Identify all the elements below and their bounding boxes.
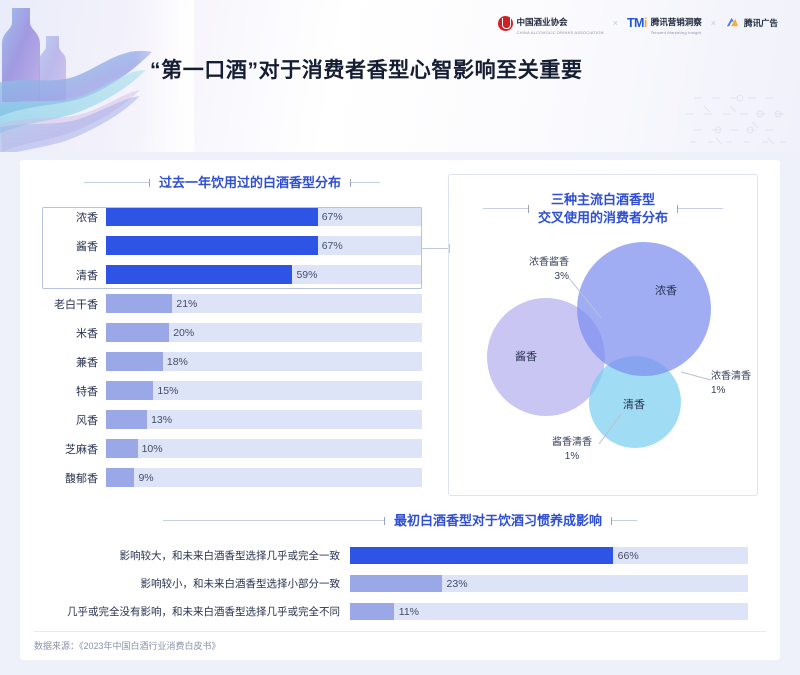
bar-fill — [106, 294, 172, 313]
cada-sublabel: CHINA ALCOHOLIC DRINKS ASSOCIATION — [517, 30, 604, 35]
bar-label: 米香 — [42, 325, 106, 341]
venn-annotation-nongxiang-qingxiang: 浓香清香 1% — [711, 370, 751, 397]
venn-annotation-value: 3% — [487, 270, 569, 284]
logo-tencent-ads: 腾讯广告 — [725, 16, 778, 30]
section-2-title-line1: 三种主流白酒香型 — [551, 192, 655, 207]
bar-value: 67% — [318, 211, 343, 223]
influence-bar-list: 影响较大，和未来白酒香型选择几乎或完全一致 66% 影响较小，和未来白酒香型选择… — [20, 546, 780, 622]
bar-value: 11% — [394, 606, 419, 618]
cada-emblem-icon — [498, 16, 513, 31]
venn-annotation-nongxiang-jiangxiang: 浓香酱香 3% — [487, 256, 569, 283]
bar-label: 老白干香 — [42, 296, 106, 312]
logo-separator-2: × — [711, 18, 716, 28]
bar-track: 11% — [350, 603, 748, 620]
heading-rule-right — [677, 208, 723, 209]
bar-track: 9% — [106, 468, 422, 487]
bar-fill — [106, 352, 163, 371]
bar-row: 清香 59% — [42, 264, 422, 286]
bar-row: 影响较小，和未来白酒香型选择小部分一致 23% — [20, 574, 748, 594]
bar-value: 10% — [138, 443, 163, 455]
cada-label: 中国酒业协会 — [517, 17, 568, 27]
bar-fill — [106, 468, 134, 487]
bar-track: 59% — [106, 265, 422, 284]
bar-value: 13% — [147, 414, 172, 426]
heading-rule-right — [350, 182, 380, 183]
bar-track: 10% — [106, 439, 422, 458]
bar-fill — [106, 265, 292, 284]
venn-annotation-value: 1% — [711, 384, 751, 398]
section-1-title: 过去一年饮用过的白酒香型分布 — [159, 174, 341, 192]
venn-annotation-label: 浓香酱香 — [529, 257, 569, 268]
bar-value: 59% — [292, 269, 317, 281]
bar-value: 23% — [442, 578, 468, 590]
bar-row: 浓香 67% — [42, 206, 422, 228]
bar-label: 芝麻香 — [42, 441, 106, 457]
bar-label: 兼香 — [42, 354, 106, 370]
bar-fill — [106, 236, 318, 255]
bar-track: 21% — [106, 294, 422, 313]
bar-value: 15% — [153, 385, 178, 397]
bar-label: 影响较大，和未来白酒香型选择几乎或完全一致 — [20, 548, 350, 563]
aroma-overlap-venn-panel: 三种主流白酒香型 交叉使用的消费者分布 浓香 酱香 清香 浓香酱香 3% — [448, 174, 758, 496]
bar-value: 66% — [613, 550, 639, 562]
tmi-sublabel: Tencent Marketing Insight — [651, 30, 702, 35]
bar-value: 67% — [318, 240, 343, 252]
bar-fill — [350, 575, 442, 592]
heading-rule-left — [84, 182, 150, 183]
bar-value: 18% — [163, 356, 188, 368]
section-3-title: 最初白酒香型对于饮酒习惯养成影响 — [394, 512, 602, 530]
bar-label: 风香 — [42, 412, 106, 428]
bar-track: 67% — [106, 236, 422, 255]
venn-annotation-label: 酱香清香 — [552, 437, 592, 448]
bar-row: 影响较大，和未来白酒香型选择几乎或完全一致 66% — [20, 546, 748, 566]
aroma-bar-list: 浓香 67% 酱香 67% 清香 59% — [42, 206, 422, 489]
partner-logos: 中国酒业协会 CHINA ALCOHOLIC DRINKS ASSOCIATIO… — [498, 12, 779, 34]
bar-label: 馥郁香 — [42, 470, 106, 486]
venn-annotation-value: 1% — [541, 450, 603, 464]
tmi-label: 腾讯营销洞察 — [651, 17, 702, 27]
bar-track: 15% — [106, 381, 422, 400]
tencent-ads-emblem-icon — [725, 16, 740, 30]
bar-fill — [350, 547, 613, 564]
logo-china-alcoholic-drinks-association: 中国酒业协会 CHINA ALCOHOLIC DRINKS ASSOCIATIO… — [498, 12, 604, 35]
section-3-heading: 最初白酒香型对于饮酒习惯养成影响 — [20, 512, 780, 530]
logo-tmi: TMi 腾讯营销洞察 Tencent Marketing Insight — [627, 12, 702, 35]
bar-row: 风香 13% — [42, 409, 422, 431]
section-1-heading: 过去一年饮用过的白酒香型分布 — [42, 174, 422, 192]
bar-value: 20% — [169, 327, 194, 339]
bar-track: 23% — [350, 575, 748, 592]
section-2-title: 三种主流白酒香型 交叉使用的消费者分布 — [538, 191, 668, 226]
bar-fill — [106, 439, 138, 458]
content-card: 过去一年饮用过的白酒香型分布 浓香 67% 酱香 67% — [20, 160, 780, 660]
bar-value: 21% — [172, 298, 197, 310]
bar-row: 几乎或完全没有影响，和未来白酒香型选择几乎或完全不同 11% — [20, 602, 748, 622]
spirit-aroma-distribution-chart: 过去一年饮用过的白酒香型分布 浓香 67% 酱香 67% — [42, 174, 422, 496]
bar-row: 芝麻香 10% — [42, 438, 422, 460]
bar-fill — [106, 381, 153, 400]
bar-track: 13% — [106, 410, 422, 429]
venn-diagram: 浓香 酱香 清香 浓香酱香 3% 浓香清香 1% 酱香清香 1% — [449, 230, 759, 480]
footer-divider — [34, 631, 766, 632]
bar-row: 特香 15% — [42, 380, 422, 402]
bar-row: 兼香 18% — [42, 351, 422, 373]
bar-fill — [350, 603, 394, 620]
heading-rule-left — [483, 208, 529, 209]
tmi-wordmark-icon: TMi — [627, 16, 647, 30]
bar-fill — [106, 410, 147, 429]
bar-label: 影响较小，和未来白酒香型选择小部分一致 — [20, 576, 350, 591]
section-2-heading: 三种主流白酒香型 交叉使用的消费者分布 — [449, 175, 757, 226]
heading-rule-right — [611, 520, 637, 521]
bar-fill — [106, 207, 318, 226]
section-2-title-line2: 交叉使用的消费者分布 — [538, 210, 668, 225]
bar-fill — [106, 323, 169, 342]
heading-rule-left — [163, 520, 385, 521]
page-title: “第一口酒”对于消费者香型心智影响至关重要 — [150, 54, 583, 84]
header-banner: “第一口酒”对于消费者香型心智影响至关重要 中国酒业协会 CHINA ALCOH… — [0, 0, 800, 152]
bar-row: 米香 20% — [42, 322, 422, 344]
bar-row: 馥郁香 9% — [42, 467, 422, 489]
bar-label: 酱香 — [42, 238, 106, 254]
bar-track: 20% — [106, 323, 422, 342]
initial-aroma-influence-chart: 最初白酒香型对于饮酒习惯养成影响 影响较大，和未来白酒香型选择几乎或完全一致 6… — [20, 512, 780, 630]
decorative-dot-pattern — [682, 84, 794, 150]
bar-track: 66% — [350, 547, 748, 564]
bar-label: 清香 — [42, 267, 106, 283]
bar-row: 老白干香 21% — [42, 293, 422, 315]
data-source-note: 数据来源：《2023年中国白酒行业消费白皮书》 — [34, 639, 221, 652]
highlight-connector-line — [422, 248, 450, 249]
logo-separator-1: × — [613, 18, 618, 28]
bar-value: 9% — [134, 472, 153, 484]
bar-track: 18% — [106, 352, 422, 371]
tencent-ads-label: 腾讯广告 — [744, 17, 778, 29]
bar-row: 酱香 67% — [42, 235, 422, 257]
venn-annotation-label: 浓香清香 — [711, 371, 751, 382]
bar-label: 特香 — [42, 383, 106, 399]
bar-label: 几乎或完全没有影响，和未来白酒香型选择几乎或完全不同 — [20, 604, 350, 619]
venn-annotation-jiangxiang-qingxiang: 酱香清香 1% — [541, 436, 603, 463]
bar-track: 67% — [106, 207, 422, 226]
bar-label: 浓香 — [42, 209, 106, 225]
